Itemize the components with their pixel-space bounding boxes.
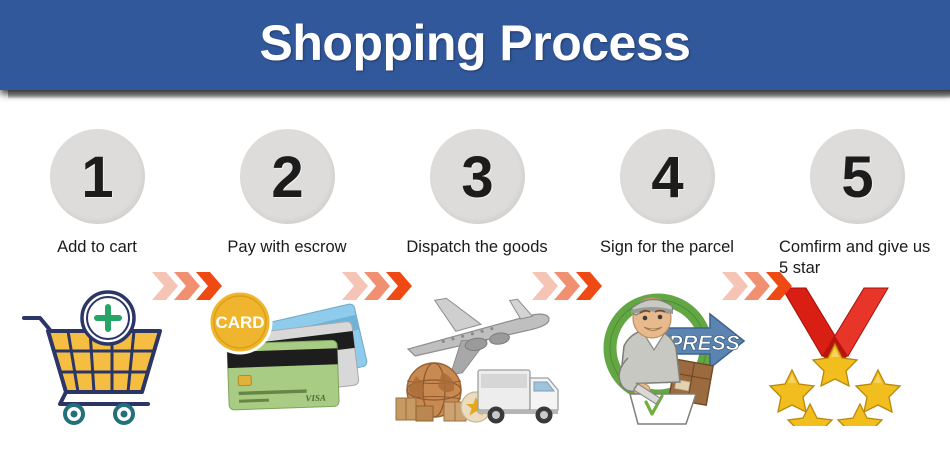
chevron-light-icon [722, 272, 748, 300]
shopping-process-infographic: Shopping Process 1 Add to cart [0, 0, 950, 468]
step-number-label: 4 [620, 129, 715, 224]
step-number-label: 2 [240, 129, 335, 224]
step-number-circle-1: 1 [50, 129, 145, 224]
step-number-circle-4: 4 [620, 129, 715, 224]
chevron-light-icon [532, 272, 558, 300]
chevron-light-icon [342, 272, 368, 300]
arrow-group-1-to-2 [150, 266, 228, 306]
arrow-group-2-to-3 [340, 266, 418, 306]
five-star-medal-icon [762, 286, 950, 426]
page-title: Shopping Process [0, 0, 950, 90]
airplane-truck-globe-icon [382, 286, 572, 426]
steps-container: 1 Add to cart [0, 110, 950, 468]
banner-shadow [8, 90, 950, 99]
arrow-group-4-to-5 [720, 266, 798, 306]
header-banner: Shopping Process [0, 0, 950, 90]
step-number-label: 5 [810, 129, 905, 224]
chevron-light-icon [152, 272, 178, 300]
step-number-label: 1 [50, 129, 145, 224]
arrow-group-3-to-4 [530, 266, 608, 306]
step-number-circle-5: 5 [810, 129, 905, 224]
step-number-circle-2: 2 [240, 129, 335, 224]
step-caption-3: Dispatch the goods [382, 237, 572, 258]
card-badge-label: CARD [215, 313, 264, 332]
courier-express-icon: EXPRESS [572, 286, 762, 426]
step-number-circle-3: 3 [430, 129, 525, 224]
step-caption-5: Comfirm and give us 5 star [779, 237, 944, 279]
step-caption-4: Sign for the parcel [572, 237, 762, 258]
card-network-label: VISA [305, 393, 326, 404]
credit-cards-icon: VISA CARD [192, 286, 382, 426]
step-number-label: 3 [430, 129, 525, 224]
shopping-cart-plus-icon [2, 286, 192, 426]
step-caption-2: Pay with escrow [192, 237, 382, 258]
step-caption-1: Add to cart [2, 237, 192, 258]
